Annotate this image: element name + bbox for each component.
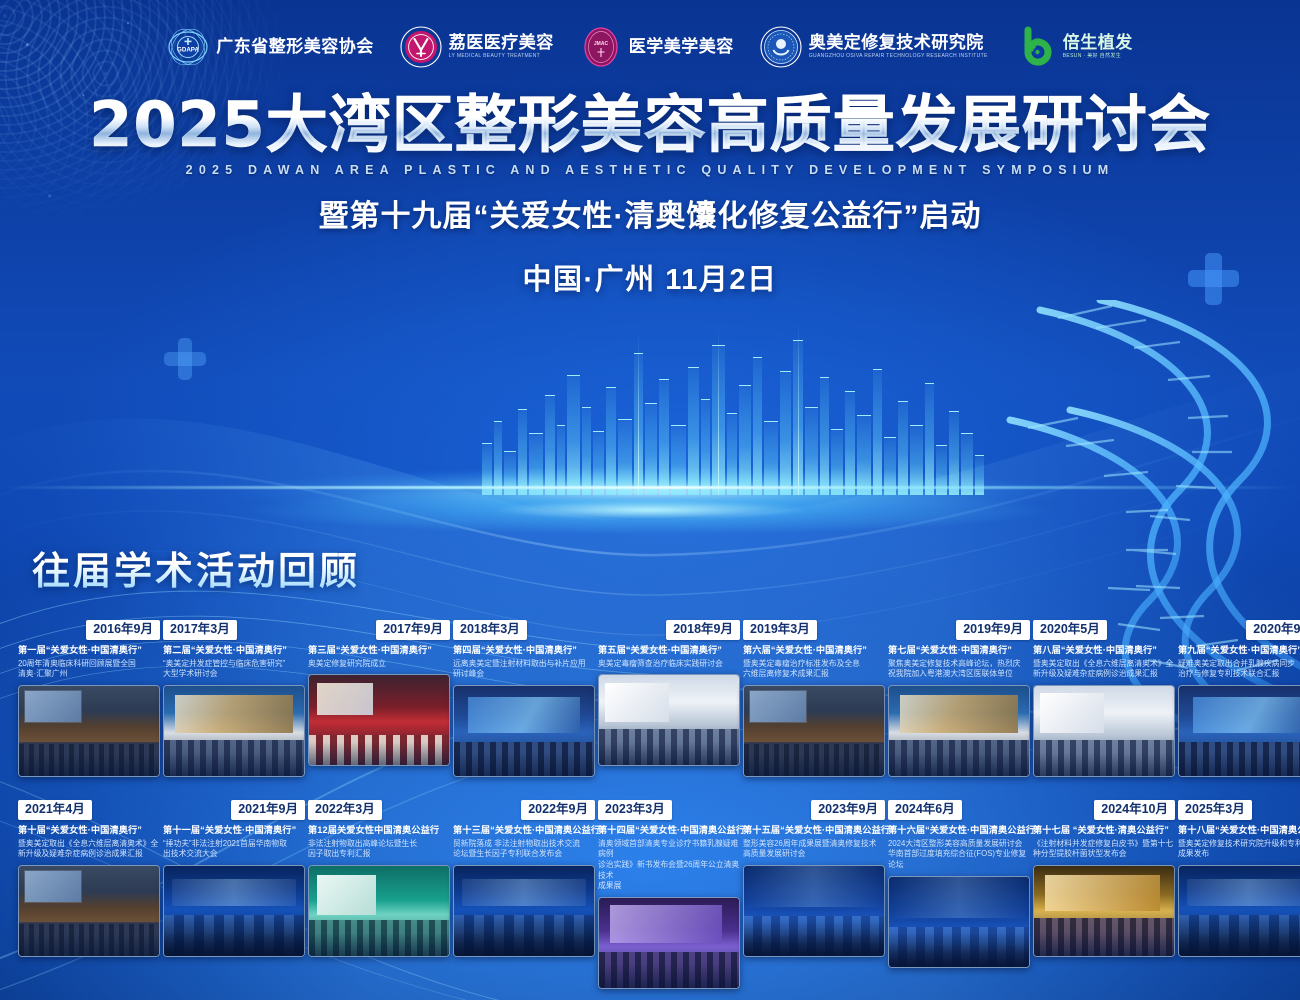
timeline-card-description: 远离奥美定暨注射材料取出与补片应用研讨峰会 [453, 659, 595, 680]
timeline-card-description: 暨奥美定毒瘤治疗标准发布及全息六维层离修复术成果汇报 [743, 659, 885, 680]
timeline-card-photo[interactable] [1033, 865, 1175, 957]
gdapa-logo-icon: GDAPA [167, 26, 209, 68]
timeline-card[interactable]: 2017年3月第二届“关爱女性·中国清奥行”“奥美定并发症管控与临床危害研究”大… [163, 620, 305, 777]
timeline-date-chip: 2024年6月 [888, 800, 962, 820]
photo-gradient-overlay [599, 964, 739, 987]
timeline-date-chip: 2019年9月 [956, 620, 1030, 640]
timeline-card-photo[interactable] [163, 865, 305, 957]
timeline-card-title: 第四届“关爱女性·中国清奥行” [453, 645, 595, 657]
timeline-card-photo[interactable] [598, 674, 740, 766]
gosiva-logo-icon [760, 26, 802, 68]
timeline-date-chip: 2019年3月 [743, 620, 817, 640]
timeline-card-description: 奥美定毒瘤筛查治疗临床实践研讨会 [598, 659, 740, 670]
photo-gradient-overlay [1179, 753, 1300, 776]
title-block: 2025大湾区整形美容高质量发展研讨会 2025 DAWAN AREA PLAS… [0, 92, 1300, 235]
timeline-date-row: 2022年9月 [453, 800, 595, 820]
timeline-card-description: 奥美定修复研究院成立 [308, 659, 450, 670]
timeline-card-description: 清奥领域首部清奥专业诊疗书籍乳腺疑难病例诊治实践》新书发布会暨26周年公立清奥技… [598, 839, 740, 892]
timeline-card-title: 第六届“关爱女性·中国清奥行” [743, 645, 885, 657]
timeline-date-row: 2025年3月 [1178, 800, 1300, 820]
timeline-date-chip: 2025年3月 [1178, 800, 1252, 820]
timeline-date-chip: 2021年9月 [231, 800, 305, 820]
photo-gradient-overlay [164, 753, 304, 776]
timeline-card-photo[interactable] [888, 685, 1030, 777]
timeline-date-row: 2017年3月 [163, 620, 305, 640]
timeline-card-title: 第十七届 “关爱女性·清奥公益行” [1033, 825, 1175, 837]
timeline-card[interactable]: 2018年3月第四届“关爱女性·中国清奥行”远离奥美定暨注射材料取出与补片应用研… [453, 620, 595, 777]
timeline-date-row: 2020年5月 [1033, 620, 1175, 640]
timeline-card[interactable]: 2023年3月第十四届“关爱女性·中国清奥公益行”清奥领域首部清奥专业诊疗书籍乳… [598, 800, 740, 989]
photo-gradient-overlay [744, 933, 884, 956]
timeline-card-photo[interactable] [453, 865, 595, 957]
photo-gradient-overlay [309, 742, 449, 765]
timeline-card-photo[interactable] [18, 865, 160, 957]
photo-gradient-overlay [744, 753, 884, 776]
timeline-card-description: 《注射材料并发症修复白皮书》暨第十七种分型提胶杆菌状型发布会 [1033, 839, 1175, 860]
timeline-card-title: 第九届“关爱女性·中国清奥行” [1178, 645, 1300, 657]
timeline-card-title: 第十八届“关爱女性·中国清奥公益行” [1178, 825, 1300, 837]
timeline-card[interactable]: 2021年9月第十一届“关爱女性·中国清奥行”“捶功夫”非法注射2021首届华南… [163, 800, 305, 989]
timeline-card-description: “捶功夫”非法注射2021首届华南物取出技术交流大会 [163, 839, 305, 860]
svg-text:JMAC: JMAC [594, 41, 609, 47]
svg-text:GDAPA: GDAPA [177, 47, 199, 54]
timeline-date-row: 2024年6月 [888, 800, 1030, 820]
timeline-card[interactable]: 2022年9月第十三届“关爱女性·中国清奥公益行”贸新院落成 非法注射物取出技术… [453, 800, 595, 989]
photo-gradient-overlay [164, 933, 304, 956]
timeline-date-chip: 2017年9月 [376, 620, 450, 640]
timeline-card[interactable]: 2019年3月第六届“关爱女性·中国清奥行”暨奥美定毒瘤治疗标准发布及全息六维层… [743, 620, 885, 777]
sponsor-logo-besun[interactable]: 倍生植发 BESUN · 美好 自然发生 [1014, 26, 1133, 68]
timeline-card-photo[interactable] [1178, 865, 1300, 957]
timeline-card-photo[interactable] [1033, 685, 1175, 777]
title-subtitle: 暨第十九届“关爱女性·清奥馕化修复公益行”启动 [0, 191, 1300, 235]
timeline-date-row: 2019年3月 [743, 620, 885, 640]
timeline-date-row: 2023年3月 [598, 800, 740, 820]
timeline-card-photo[interactable] [163, 685, 305, 777]
timeline-date-chip: 2020年5月 [1033, 620, 1107, 640]
sponsor-name-en: BESUN · 美好 自然发生 [1063, 54, 1133, 59]
timeline-card-title: 第十三届“关爱女性·中国清奥公益行” [453, 825, 595, 837]
sponsor-logo-gdapa[interactable]: GDAPA 广东省整形美容协会 [167, 26, 374, 68]
photo-gradient-overlay [454, 933, 594, 956]
timeline-date-row: 2019年9月 [888, 620, 1030, 640]
sponsor-name: 荔医医疗美容 [449, 34, 554, 52]
sponsor-name: 广东省整形美容协会 [216, 38, 374, 56]
sponsor-name-en: GUANGZHOU OSIVA REPAIR TECHNOLOGY RESEAR… [809, 54, 988, 59]
timeline-card-photo[interactable] [18, 685, 160, 777]
timeline-card-title: 第八届“关爱女性·中国清奥行” [1033, 645, 1175, 657]
timeline-card-photo[interactable] [743, 865, 885, 957]
timeline-card[interactable]: 2020年5月第八届“关爱女性·中国清奥行”暨奥美定取出《全息六维层离清奥术》全… [1033, 620, 1175, 777]
timeline-date-chip: 2016年9月 [86, 620, 160, 640]
timeline-date-chip: 2021年4月 [18, 800, 92, 820]
timeline-date-chip: 2022年9月 [521, 800, 595, 820]
timeline-card-title: 第十五届“关爱女性·中国清奥公益行” [743, 825, 885, 837]
photo-gradient-overlay [1034, 753, 1174, 776]
timeline-card-photo[interactable] [1178, 685, 1300, 777]
timeline-card-description: 疑难奥美定取出合并乳腺疾病同步治疗与修复专利技术联合汇报 [1178, 659, 1300, 680]
timeline-card[interactable]: 2024年10月第十七届 “关爱女性·清奥公益行”《注射材料并发症修复白皮书》暨… [1033, 800, 1175, 989]
location-date: 中国·广州 11月2日 [0, 256, 1300, 298]
timeline-card-title: 第十六届“关爱女性·中国清奥公益行” [888, 825, 1030, 837]
timeline-card-title: 第三届“关爱女性·中国清奥行” [308, 645, 450, 657]
photo-gradient-overlay [1179, 933, 1300, 956]
timeline-date-row: 2020年9月 [1178, 620, 1300, 640]
timeline-card-title: 第一届“关爱女性·中国清奥行” [18, 645, 160, 657]
photo-gradient-overlay [889, 753, 1029, 776]
timeline-date-chip: 2017年3月 [163, 620, 237, 640]
timeline-card-description: 20周年清奥临床科研回顾展暨全国清奥·汇聚广州 [18, 659, 160, 680]
timeline-card[interactable]: 2021年4月第十届“关爱女性·中国清奥行”暨奥美定取出《全息六维层离清奥术》全… [18, 800, 160, 989]
timeline-card-photo[interactable] [743, 685, 885, 777]
timeline-date-row: 2022年3月 [308, 800, 450, 820]
timeline-date-chip: 2023年9月 [811, 800, 885, 820]
timeline-row-2: 2021年4月第十届“关爱女性·中国清奥行”暨奥美定取出《全息六维层离清奥术》全… [18, 800, 1300, 989]
timeline-card-photo[interactable] [598, 897, 740, 989]
timeline-date-row: 2023年9月 [743, 800, 885, 820]
timeline-card[interactable]: 2020年9月第九届“关爱女性·中国清奥行”疑难奥美定取出合并乳腺疾病同步治疗与… [1178, 620, 1300, 777]
jmac-logo-icon: JMAC [580, 26, 622, 68]
timeline-date-row: 2016年9月 [18, 620, 160, 640]
timeline-row-1: 2016年9月第一届“关爱女性·中国清奥行”20周年清奥临床科研回顾展暨全国清奥… [18, 620, 1300, 777]
title-english: 2025 DAWAN AREA PLASTIC AND AESTHETIC QU… [0, 163, 1300, 177]
photo-gradient-overlay [889, 943, 1029, 966]
sponsor-name: 医学美学美容 [629, 38, 734, 56]
besun-logo-icon [1014, 26, 1056, 68]
timeline-card[interactable]: 2025年3月第十八届“关爱女性·中国清奥公益行”暨奥美定修复技术研究院升级和专… [1178, 800, 1300, 989]
photo-gradient-overlay [19, 933, 159, 956]
timeline-date-row: 2024年10月 [1033, 800, 1175, 820]
timeline-card-title: 第十四届“关爱女性·中国清奥公益行” [598, 825, 740, 837]
lymedical-logo-icon [400, 26, 442, 68]
timeline-card-description: 聚焦奥美定修复技术高峰论坛，热烈庆祝我院加入粤港澳大湾区医联体单位 [888, 659, 1030, 680]
timeline-card-description: 暨奥美定取出《全息六维层离清奥术》全新升级及疑难杂症病例诊治成果汇报 [18, 839, 160, 860]
sponsor-name: 倍生植发 [1063, 34, 1133, 52]
timeline-card-description: 2024大湾区整形美容高质量发展研讨会华南首部过度填充综合征(FOS)专业修复论… [888, 839, 1030, 871]
sponsor-logo-strip: GDAPA 广东省整形美容协会 荔医医疗美容 LY MEDICAL BEAUTY… [0, 26, 1300, 68]
timeline-card-description: “奥美定并发症管控与临床危害研究”大型学术研讨会 [163, 659, 305, 680]
page-title: 2025大湾区整形美容高质量发展研讨会 [0, 92, 1300, 159]
timeline-date-row: 2021年4月 [18, 800, 160, 820]
timeline-card-photo[interactable] [888, 876, 1030, 968]
timeline-card-title: 第二届“关爱女性·中国清奥行” [163, 645, 305, 657]
timeline-card-photo[interactable] [453, 685, 595, 777]
timeline-date-chip: 2024年10月 [1094, 800, 1175, 820]
sponsor-name: 奥美定修复技术研究院 [809, 34, 988, 52]
sponsor-logo-gosiva[interactable]: 奥美定修复技术研究院 GUANGZHOU OSIVA REPAIR TECHNO… [760, 26, 988, 68]
sponsor-logo-jmac[interactable]: JMAC 医学美学美容 [580, 26, 734, 68]
timeline-date-row: 2018年9月 [598, 620, 740, 640]
timeline-date-chip: 2023年3月 [598, 800, 672, 820]
timeline-date-chip: 2022年3月 [308, 800, 382, 820]
timeline-card[interactable]: 2018年9月第五届“关爱女性·中国清奥行”奥美定毒瘤筛查治疗临床实践研讨会 [598, 620, 740, 777]
photo-gradient-overlay [19, 753, 159, 776]
photo-gradient-overlay [309, 933, 449, 956]
timeline-card-title: 第七届“关爱女性·中国清奥行” [888, 645, 1030, 657]
section-heading: 往届学术活动回顾 [32, 540, 360, 595]
photo-gradient-overlay [454, 753, 594, 776]
photo-gradient-overlay [1034, 933, 1174, 956]
timeline-card-description: 暨奥美定修复技术研究院升级和专利技术成果发布 [1178, 839, 1300, 860]
timeline-card-title: 第十届“关爱女性·中国清奥行” [18, 825, 160, 837]
timeline-card-title: 第12届关爱女性中国清奥公益行 [308, 825, 450, 837]
timeline-card-photo[interactable] [308, 674, 450, 766]
timeline-card-title: 第五届“关爱女性·中国清奥行” [598, 645, 740, 657]
sponsor-logo-lymedical[interactable]: 荔医医疗美容 LY MEDICAL BEAUTY TREATMENT [400, 26, 554, 68]
timeline-card[interactable]: 2024年6月第十六届“关爱女性·中国清奥公益行”2024大湾区整形美容高质量发… [888, 800, 1030, 989]
timeline-date-row: 2017年9月 [308, 620, 450, 640]
timeline-card-title: 第十一届“关爱女性·中国清奥行” [163, 825, 305, 837]
timeline-date-row: 2021年9月 [163, 800, 305, 820]
timeline-card[interactable]: 2016年9月第一届“关爱女性·中国清奥行”20周年清奥临床科研回顾展暨全国清奥… [18, 620, 160, 777]
medical-cross-icon [178, 338, 192, 380]
timeline-card-description: 暨奥美定取出《全息六维层离清奥术》全新升级及疑难杂症病例诊治成果汇报 [1033, 659, 1175, 680]
photo-gradient-overlay [599, 742, 739, 765]
timeline-date-chip: 2018年9月 [666, 620, 740, 640]
timeline-date-row: 2018年3月 [453, 620, 595, 640]
timeline-card-description: 非法注射物取出高峰论坛暨生长因子取出专利汇报 [308, 839, 450, 860]
sponsor-name-en: LY MEDICAL BEAUTY TREATMENT [449, 54, 554, 59]
timeline-card-description: 贸新院落成 非法注射物取出技术交流论坛暨生长因子专利联合发布会 [453, 839, 595, 860]
timeline-card-description: 整形美容26周年成果展暨清奥修复技术高质量发展研讨会 [743, 839, 885, 860]
timeline-card[interactable]: 2017年9月第三届“关爱女性·中国清奥行”奥美定修复研究院成立 [308, 620, 450, 777]
timeline-card[interactable]: 2023年9月第十五届“关爱女性·中国清奥公益行”整形美容26周年成果展暨清奥修… [743, 800, 885, 989]
timeline-card-photo[interactable] [308, 865, 450, 957]
timeline-date-chip: 2018年3月 [453, 620, 527, 640]
timeline-card[interactable]: 2019年9月第七届“关爱女性·中国清奥行”聚焦奥美定修复技术高峰论坛，热烈庆祝… [888, 620, 1030, 777]
timeline-date-chip: 2020年9月 [1246, 620, 1300, 640]
timeline-card[interactable]: 2022年3月第12届关爱女性中国清奥公益行非法注射物取出高峰论坛暨生长因子取出… [308, 800, 450, 989]
